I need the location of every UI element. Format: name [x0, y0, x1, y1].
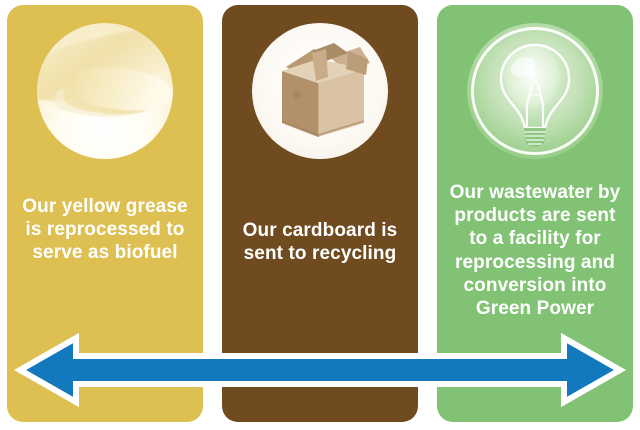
panel-caption-green-power: Our wastewater by products are sent to a…: [437, 181, 633, 320]
panel-green-power[interactable]: Our wastewater by products are sent to a…: [437, 5, 633, 422]
cardboard-box-illustration: [252, 23, 388, 159]
hands-fingers-detail: [82, 73, 164, 116]
light-bulb-photo: [467, 23, 603, 159]
panel-cardboard[interactable]: Our cardboard is sent to recycling: [222, 5, 418, 422]
light-bulb-ring: [471, 27, 599, 155]
infographic-root: Our yellow grease is reprocessed to serv…: [0, 0, 640, 430]
hands-washing-photo: [37, 23, 173, 159]
panel-caption-cardboard: Our cardboard is sent to recycling: [222, 219, 418, 265]
panel-row: Our yellow grease is reprocessed to serv…: [0, 0, 640, 430]
panel-caption-yellow-grease: Our yellow grease is reprocessed to serv…: [7, 195, 203, 265]
cardboard-box-photo: [252, 23, 388, 159]
panel-yellow-grease[interactable]: Our yellow grease is reprocessed to serv…: [7, 5, 203, 422]
